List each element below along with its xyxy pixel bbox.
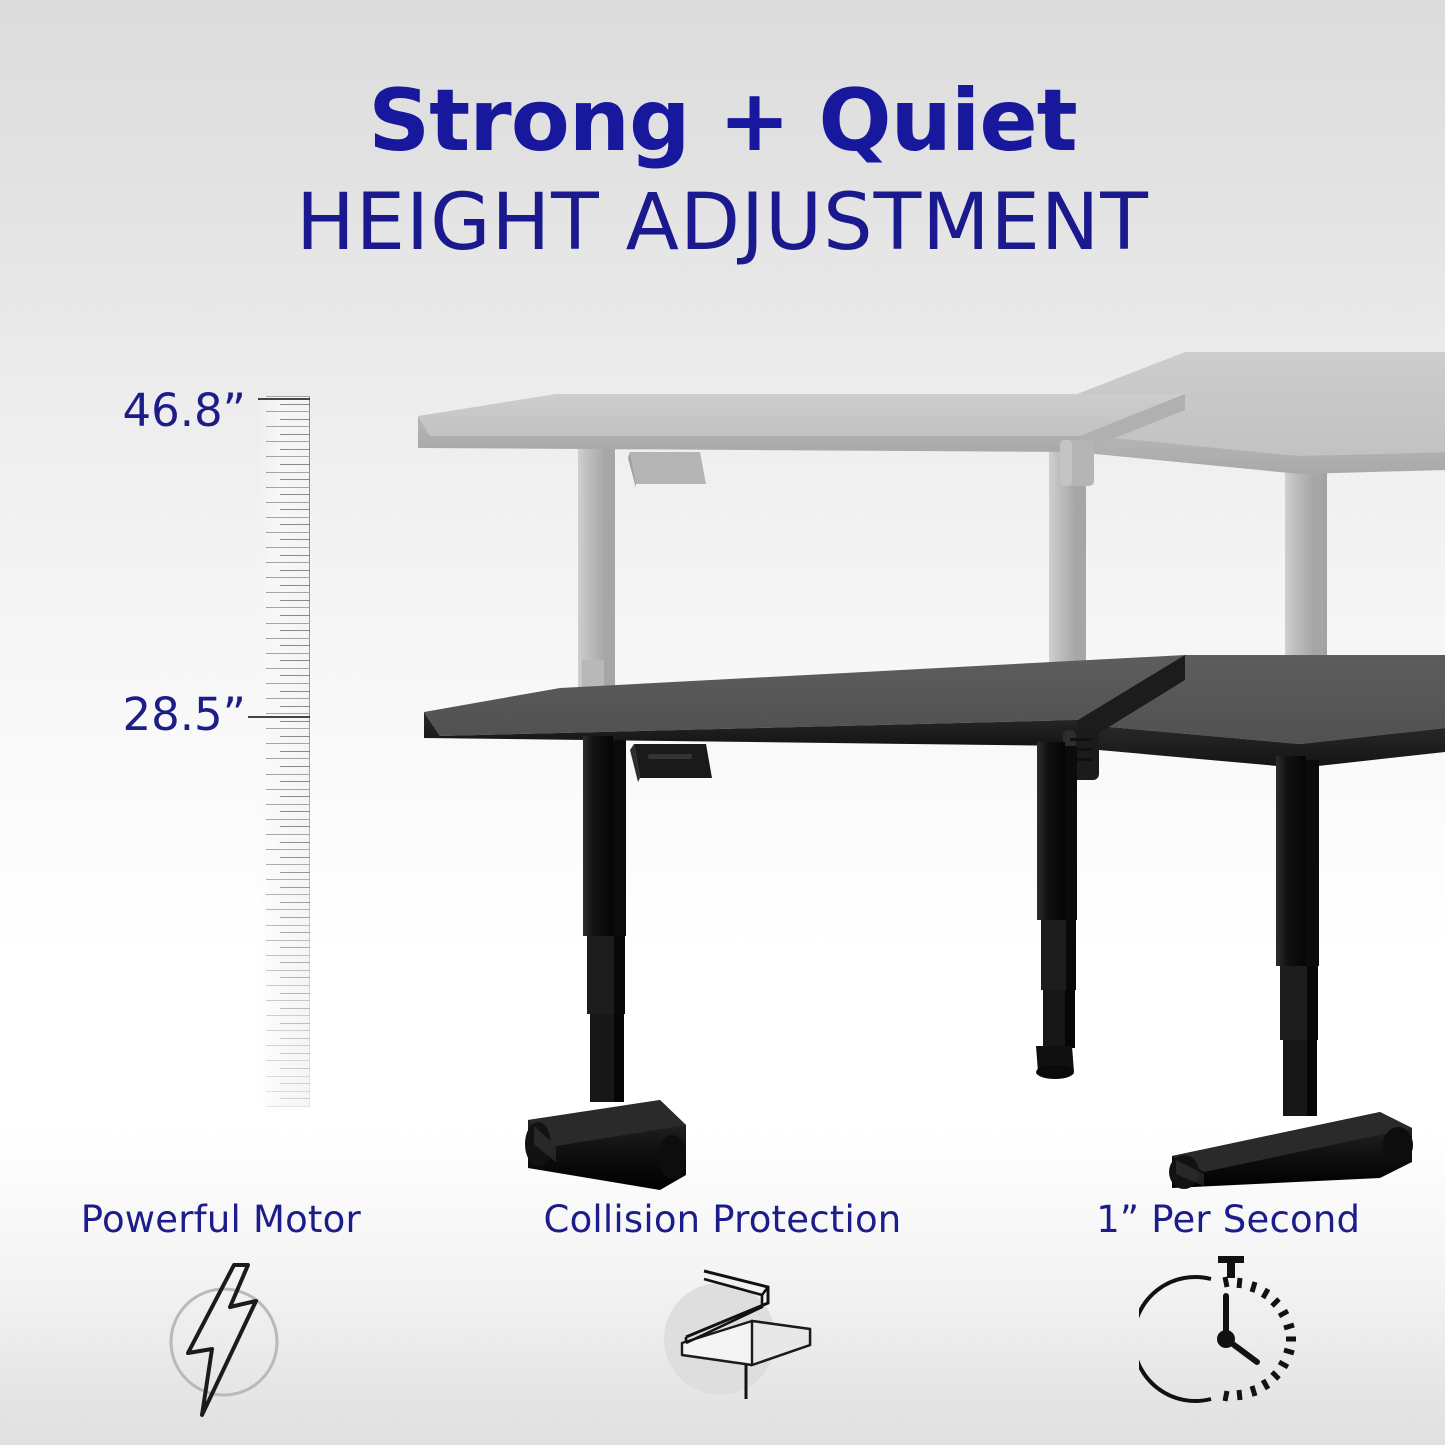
ruler-tick — [266, 1091, 310, 1092]
ruler-tick — [280, 1038, 310, 1039]
ruler-tick — [266, 985, 310, 986]
page-subtitle: HEIGHT ADJUSTMENT — [0, 180, 1445, 267]
ruler-tick — [280, 706, 310, 707]
ruler-tick — [266, 1045, 310, 1046]
ruler-tick — [280, 736, 310, 737]
ruler-tick — [266, 426, 310, 427]
ruler-tick — [266, 1015, 310, 1016]
ruler-tick — [266, 894, 310, 895]
ghost-leg-corner — [1049, 432, 1086, 670]
ruler-tick — [280, 645, 310, 646]
clock-icon — [1023, 1255, 1445, 1423]
leg-corner — [1036, 742, 1077, 1079]
desktop-main — [424, 655, 1185, 746]
ruler-tick — [266, 441, 310, 442]
ruler-tick — [266, 668, 310, 669]
ruler-tick — [266, 577, 310, 578]
ruler-tick — [280, 1098, 310, 1099]
ruler-tick — [280, 902, 310, 903]
ruler-tick — [280, 932, 310, 933]
ruler-tick — [266, 502, 310, 503]
ruler-tick — [280, 1083, 310, 1084]
ruler-tick — [280, 615, 310, 616]
ruler-tick — [280, 766, 310, 767]
collision-desktop-icon — [490, 1255, 964, 1423]
ruler-tick — [280, 691, 310, 692]
ruler-tick — [280, 494, 310, 495]
ruler-tick — [280, 796, 310, 797]
ruler-tick — [280, 947, 310, 948]
ruler-tick — [280, 404, 310, 405]
height-ruler — [258, 396, 310, 1106]
ruler-tick — [266, 804, 310, 805]
leg-front-left — [525, 736, 686, 1190]
ruler-tick — [266, 517, 310, 518]
ruler-tick — [280, 917, 310, 918]
ruler-tick — [280, 1023, 310, 1024]
control-panel — [630, 744, 712, 782]
ruler-tick — [280, 479, 310, 480]
ruler-tick — [280, 1008, 310, 1009]
ruler-tick — [266, 713, 310, 714]
ruler-tick — [280, 630, 310, 631]
ruler-tick — [280, 449, 310, 450]
ruler-tick — [280, 675, 310, 676]
ruler-tick — [266, 940, 310, 941]
ruler-tick — [266, 819, 310, 820]
ruler-tick — [266, 562, 310, 563]
ruler-tick — [280, 721, 310, 722]
ruler-tick — [266, 532, 310, 533]
ruler-tick — [266, 1060, 310, 1061]
feature-powerful-motor: Powerful Motor — [0, 1198, 482, 1445]
ruler-tick — [266, 592, 310, 593]
raised-desk-ghost — [418, 352, 1445, 720]
feature-row: Powerful Motor Collision Protection — [0, 1198, 1445, 1445]
ruler-tick — [266, 849, 310, 850]
ruler-tick — [280, 555, 310, 556]
leg-front-right — [1169, 756, 1413, 1189]
ruler-tick — [266, 925, 310, 926]
ruler-tick — [266, 1076, 310, 1077]
feature-collision-protection: Collision Protection — [482, 1198, 964, 1445]
ruler-tick — [280, 539, 310, 540]
ruler-major-tick — [258, 398, 310, 400]
ruler-tick — [266, 456, 310, 457]
ruler-tick — [280, 751, 310, 752]
ruler-tick — [280, 857, 310, 858]
ruler-tick — [266, 472, 310, 473]
ruler-tick — [266, 909, 310, 910]
desktop-wing — [1054, 655, 1445, 768]
ruler-tick — [280, 811, 310, 812]
ruler-tick — [266, 864, 310, 865]
page-title: Strong + Quiet — [0, 78, 1445, 164]
ruler-tick — [266, 487, 310, 488]
ruler-tick — [266, 789, 310, 790]
ruler-major-tick — [248, 716, 310, 718]
ruler-tick — [280, 660, 310, 661]
ruler-tick — [280, 826, 310, 827]
headline-block: Strong + Quiet HEIGHT ADJUSTMENT — [0, 78, 1445, 267]
ruler-tick — [280, 585, 310, 586]
ruler-tick — [266, 683, 310, 684]
ruler-tick — [280, 977, 310, 978]
ruler-tick — [280, 419, 310, 420]
lightning-bolt-icon — [0, 1255, 482, 1423]
ruler-tick — [266, 758, 310, 759]
ghost-desktop-main — [418, 394, 1185, 452]
feature-label-powerful-motor: Powerful Motor — [0, 1198, 482, 1241]
ruler-tick — [280, 434, 310, 435]
ruler-tick — [280, 464, 310, 465]
ruler-tick — [266, 1030, 310, 1031]
feature-speed: 1” Per Second — [963, 1198, 1445, 1445]
ruler-tick — [280, 842, 310, 843]
min-height-label: 28.5” — [110, 688, 246, 741]
ruler-tick — [280, 887, 310, 888]
ruler-tick — [280, 1053, 310, 1054]
ruler-tick — [280, 1068, 310, 1069]
ruler-tick — [266, 698, 310, 699]
ruler-tick — [280, 570, 310, 571]
ruler-tick — [266, 743, 310, 744]
ghost-leg-right-rear — [1285, 455, 1327, 665]
ruler-tick — [280, 962, 310, 963]
ruler-tick — [266, 396, 310, 397]
ghost-cable-bracket — [1060, 440, 1094, 486]
ruler-tick — [266, 623, 310, 624]
ruler-tick — [280, 524, 310, 525]
ruler-tick — [266, 774, 310, 775]
ghost-leg-wing — [1285, 455, 1323, 675]
feature-label-collision-protection: Collision Protection — [482, 1198, 964, 1241]
ruler-tick — [266, 547, 310, 548]
ruler-tick — [266, 955, 310, 956]
ruler-tick — [280, 509, 310, 510]
lowered-desk — [424, 655, 1445, 1190]
ghost-desktop-wing — [1054, 352, 1445, 474]
ruler-tick — [266, 728, 310, 729]
max-height-label: 46.8” — [118, 384, 246, 437]
ruler-tick — [266, 970, 310, 971]
feature-label-speed: 1” Per Second — [1011, 1198, 1445, 1241]
ruler-tick — [266, 638, 310, 639]
ruler-tick — [280, 872, 310, 873]
ruler-tick — [266, 607, 310, 608]
ruler-tick — [266, 1106, 310, 1107]
ruler-tick — [280, 993, 310, 994]
cable-bracket — [1063, 730, 1099, 780]
ruler-tick — [280, 781, 310, 782]
ruler-tick — [280, 600, 310, 601]
ruler-tick — [266, 411, 310, 412]
ghost-leg-left — [578, 440, 615, 720]
ruler-tick — [266, 834, 310, 835]
ruler-tick — [266, 653, 310, 654]
ruler-tick — [266, 879, 310, 880]
ruler-tick — [266, 1000, 310, 1001]
ghost-control-panel — [628, 452, 706, 488]
